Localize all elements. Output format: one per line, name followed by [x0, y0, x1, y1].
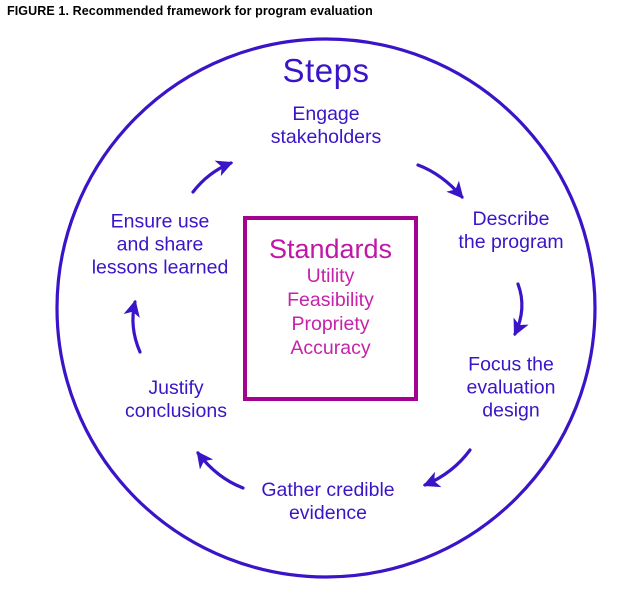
step-line: stakeholders — [271, 126, 382, 149]
arrow-engage-to-describe — [418, 165, 462, 197]
figure-caption: FIGURE 1. Recommended framework for prog… — [7, 4, 373, 18]
step-ensure-use-and-share-lessons-learned: Ensure use and share lessons learned — [92, 211, 229, 280]
standards-item-feasibility: Feasibility — [247, 288, 414, 312]
step-focus-the-evaluation-design: Focus the evaluation design — [467, 354, 556, 423]
diagram-title: Steps — [283, 53, 370, 89]
arrow-describe-to-focus — [515, 284, 522, 334]
step-engage-stakeholders: Engage stakeholders — [271, 103, 382, 149]
program-evaluation-framework-diagram: Steps Engage stakeholders Describe the p… — [0, 22, 630, 596]
step-line: Focus the — [467, 354, 556, 377]
arrow-justify-to-ensure — [133, 302, 140, 352]
arrow-ensure-to-engage — [193, 163, 231, 192]
step-line: conclusions — [125, 400, 227, 423]
arrow-focus-to-gather — [425, 450, 470, 485]
standards-heading: Standards — [247, 234, 414, 264]
arrow-gather-to-justify — [198, 453, 243, 488]
standards-item-propriety: Propriety — [247, 312, 414, 336]
standards-item-accuracy: Accuracy — [247, 336, 414, 360]
step-describe-the-program: Describe the program — [458, 208, 563, 254]
step-line: design — [467, 400, 556, 423]
step-gather-credible-evidence: Gather credible evidence — [261, 479, 394, 525]
step-line: lessons learned — [92, 257, 229, 280]
standards-item-utility: Utility — [247, 264, 414, 288]
step-line: the program — [458, 231, 563, 254]
step-line: evidence — [261, 502, 394, 525]
step-line: Ensure use — [92, 211, 229, 234]
step-line: Gather credible — [261, 479, 394, 502]
step-line: evaluation — [467, 377, 556, 400]
step-line: Justify — [125, 377, 227, 400]
step-line: Engage — [271, 103, 382, 126]
step-line: and share — [92, 234, 229, 257]
step-line: Describe — [458, 208, 563, 231]
step-justify-conclusions: Justify conclusions — [125, 377, 227, 423]
standards-box: Standards Utility Feasibility Propriety … — [243, 216, 418, 401]
